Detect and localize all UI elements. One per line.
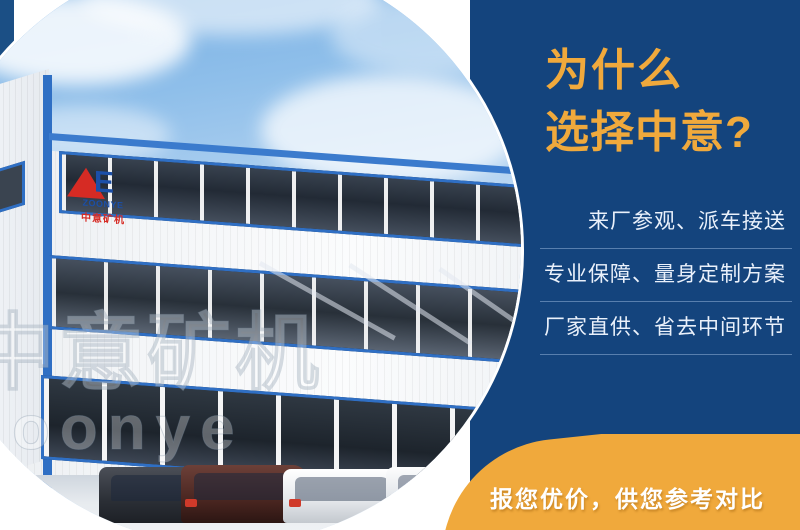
car-window xyxy=(194,473,295,500)
car-window xyxy=(398,475,497,501)
car-taillight xyxy=(289,499,301,507)
wall-logo: E ZOONYE 中意矿机 xyxy=(61,164,145,232)
parked-car xyxy=(283,469,403,523)
logo-e-icon: E xyxy=(94,167,114,198)
ribbon-text: 报您优价，供您参考对比 xyxy=(490,480,765,514)
feature-list: 来厂参观、派车接送 专业保障、量身定制方案 厂家直供、省去中间环节 xyxy=(540,196,792,355)
factory-photo: E ZOONYE 中意矿机 中意矿机 zoonye xyxy=(0,0,521,530)
headline-line-1: 为什么 xyxy=(545,40,753,102)
headline: 为什么 选择中意? xyxy=(545,40,753,164)
circular-photo-frame: E ZOONYE 中意矿机 中意矿机 zoonye xyxy=(0,0,524,530)
car-taillight xyxy=(185,499,197,507)
promo-banner: E ZOONYE 中意矿机 中意矿机 zoonye xyxy=(0,0,800,530)
feature-item: 专业保障、量身定制方案 xyxy=(540,249,792,302)
headline-line-2: 选择中意? xyxy=(545,102,753,164)
car-window xyxy=(295,477,391,502)
feature-item: 厂家直供、省去中间环节 xyxy=(540,302,792,355)
feature-item: 来厂参观、派车接送 xyxy=(540,196,792,249)
